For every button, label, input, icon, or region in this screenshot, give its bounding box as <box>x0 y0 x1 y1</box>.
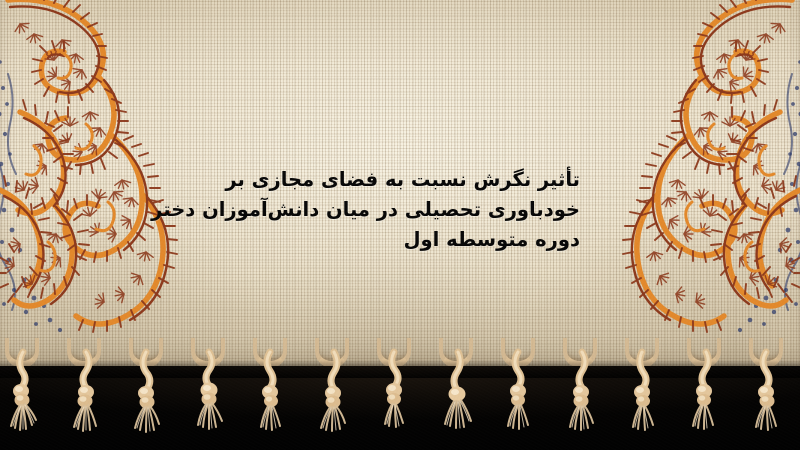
title-line-2: خودباوری تحصیلی در میان دانش‌آموزان دختر <box>150 195 580 225</box>
trim-loop <box>191 338 225 368</box>
trim-loop <box>129 338 163 368</box>
title-line-3: دوره متوسطه اول <box>150 225 580 255</box>
trim-loop <box>377 338 411 368</box>
trim-loop <box>563 338 597 368</box>
title-line-1: تأثیر نگرش نسبت به فضای مجازی بر <box>150 165 580 195</box>
trim-loop <box>67 338 101 368</box>
title-card-image: تأثیر نگرش نسبت به فضای مجازی بر خودباور… <box>0 0 800 450</box>
trim-loop <box>253 338 287 368</box>
trim-loop <box>625 338 659 368</box>
trim-loop <box>501 338 535 368</box>
black-backdrop <box>0 366 800 450</box>
trim-loop <box>749 338 783 368</box>
trim-loop <box>439 338 473 368</box>
thesis-title: تأثیر نگرش نسبت به فضای مجازی بر خودباور… <box>150 165 580 255</box>
trim-loop <box>687 338 721 368</box>
trim-loop <box>5 338 39 368</box>
trim-loop <box>315 338 349 368</box>
linen-fabric-panel: تأثیر نگرش نسبت به فضای مجازی بر خودباور… <box>0 0 800 366</box>
